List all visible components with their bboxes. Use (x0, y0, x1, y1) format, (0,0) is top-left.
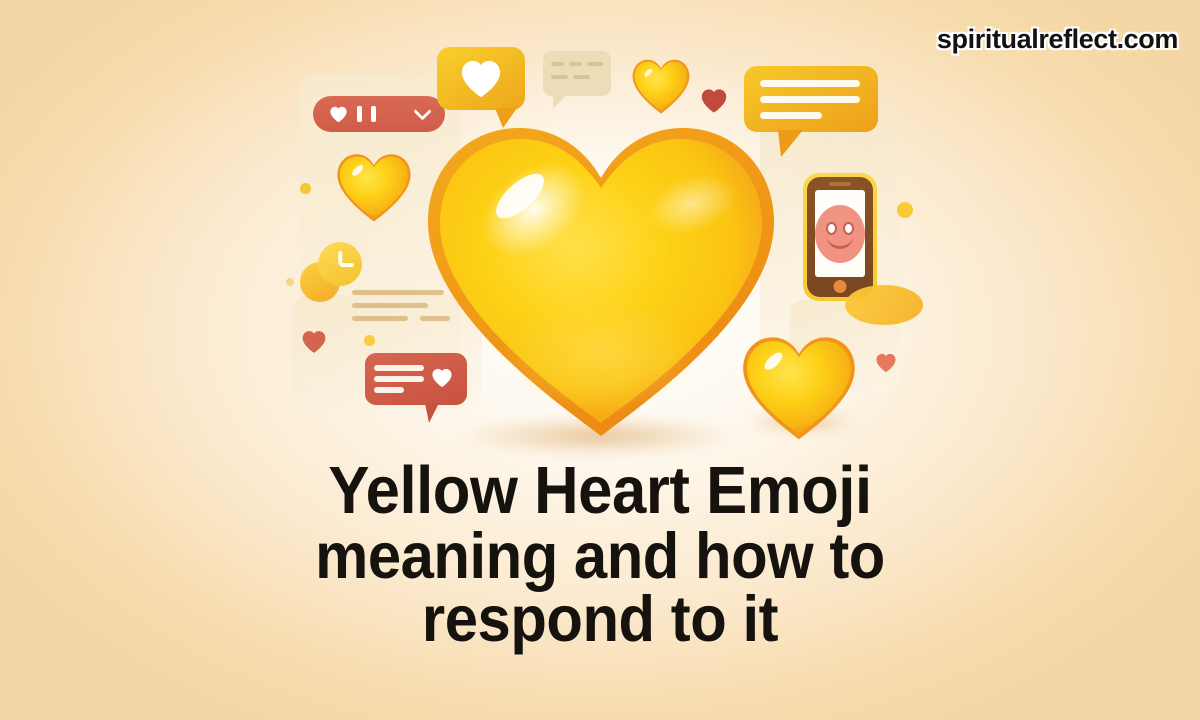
smiley-eye-right (843, 222, 854, 235)
decorative-dot (286, 278, 294, 286)
bubble-dash (573, 75, 590, 79)
bubble-dash (587, 62, 603, 66)
site-watermark: spiritualreflect.com (937, 24, 1178, 55)
bubble-dash (551, 62, 564, 66)
bubble-yellow-heart (437, 47, 525, 110)
white-heart-icon (458, 59, 504, 99)
flat-heart-salmon-right (875, 353, 897, 373)
bubble-text-line (760, 80, 860, 87)
flat-heart-red-top (700, 88, 728, 114)
bubble-text-line (760, 96, 860, 103)
bubble-tan-dashes (543, 51, 611, 96)
decorative-dot (300, 183, 311, 194)
clock-icon (300, 242, 362, 302)
title-line-1: Yellow Heart Emoji (48, 458, 1152, 524)
phone-with-smiley (803, 173, 877, 301)
heart-icon (329, 106, 348, 123)
flat-heart-red-left (301, 330, 327, 354)
decorative-dot (364, 335, 375, 346)
phone-home-button[interactable] (834, 280, 847, 293)
card-text-line (352, 316, 408, 321)
phone-body (807, 177, 873, 297)
bubble-tail (553, 95, 566, 109)
bubble-dash (551, 75, 568, 79)
bubble-dash (569, 62, 582, 66)
phone-backing-blob (845, 285, 923, 325)
phone-screen (815, 190, 865, 277)
bubble-text-line (374, 387, 404, 393)
pause-bar (357, 106, 362, 122)
clock-hand-minute (340, 263, 354, 267)
image-canvas: Yellow Heart Emoji meaning and how to re… (0, 0, 1200, 720)
decorative-dot (897, 202, 913, 218)
yellow-heart-emoji (412, 118, 790, 438)
phone-speaker (829, 182, 851, 186)
page-title: Yellow Heart Emoji meaning and how to re… (48, 458, 1152, 651)
title-line-3: respond to it (48, 587, 1152, 651)
clock-face (318, 242, 362, 286)
small-heart-left (334, 152, 414, 222)
pause-bar (371, 106, 376, 122)
smiley-eye-left (826, 222, 837, 235)
title-line-2: meaning and how to (48, 524, 1152, 588)
small-heart-top (630, 58, 692, 114)
smiley-mouth (826, 235, 854, 249)
smiley-face-icon (815, 205, 865, 263)
medium-heart-right (738, 334, 860, 440)
